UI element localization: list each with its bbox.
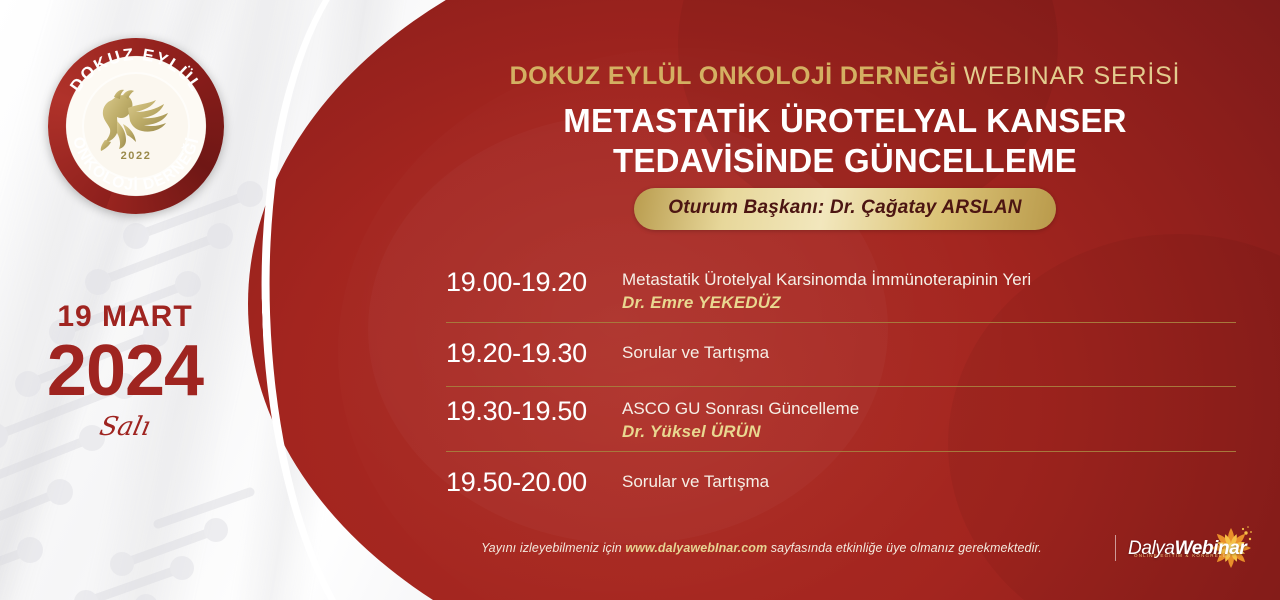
footer-note: Yayını izleyebilmeniz için www.dalyawebI…	[420, 541, 1103, 555]
session-chair-badge: Oturum Başkanı: Dr. Çağatay ARSLAN	[634, 188, 1055, 230]
schedule-time: 19.00-19.20	[446, 266, 622, 300]
date-weekday: Salı	[0, 412, 253, 442]
webinar-poster: DOKUZ EYLÜL ONKOLOJİ DERNEĞİ	[0, 0, 1280, 600]
kicker-series: WEBINAR SERİSİ	[964, 62, 1181, 90]
schedule-time: 19.30-19.50	[446, 395, 622, 429]
schedule-row: 19.50-20.00 Sorular ve Tartışma	[446, 451, 1236, 515]
schedule-row: 19.00-19.20 Metastatik Ürotelyal Karsino…	[446, 258, 1236, 322]
date-day: 19 MART	[0, 302, 250, 332]
emblem-year: 2022	[48, 150, 224, 162]
schedule-speaker: Dr. Emre YEKEDÜZ	[622, 293, 1236, 313]
kicker: DOKUZ EYLÜL ONKOLOJİ DERNEĞİ WEBINAR SER…	[430, 62, 1260, 91]
kicker-association: DOKUZ EYLÜL ONKOLOJİ DERNEĞİ	[510, 62, 957, 90]
footer-divider	[1115, 535, 1116, 561]
footer: Yayını izleyebilmeniz için www.dalyawebI…	[420, 528, 1250, 568]
schedule-speaker: Dr. Yüksel ÜRÜN	[622, 422, 1236, 442]
title-line-1: METASTATİK ÜROTELYAL KANSER	[430, 101, 1260, 141]
title-line-2: TEDAVİSİNDE GÜNCELLEME	[430, 141, 1260, 181]
page-title: METASTATİK ÜROTELYAL KANSER TEDAVİSİNDE …	[430, 101, 1260, 182]
event-date: 19 MART 2024 Salı	[0, 302, 250, 442]
schedule-topic: Sorular ve Tartışma	[622, 471, 1236, 494]
flaming-horse-icon	[90, 88, 182, 152]
footer-note-after: sayfasında etkinliğe üye olmanız gerekme…	[767, 541, 1042, 555]
date-year: 2024	[0, 334, 250, 410]
schedule-topic: Sorular ve Tartışma	[622, 342, 1236, 365]
schedule-topic: Metastatik Ürotelyal Karsinomda İmmünote…	[622, 269, 1236, 292]
association-emblem: DOKUZ EYLÜL ONKOLOJİ DERNEĞİ	[48, 38, 224, 214]
header: DOKUZ EYLÜL ONKOLOJİ DERNEĞİ WEBINAR SER…	[430, 62, 1260, 181]
schedule-time: 19.20-19.30	[446, 337, 622, 371]
webinar-url[interactable]: www.dalyawebInar.com	[625, 541, 767, 555]
schedule-row: 19.30-19.50 ASCO GU Sonrası Güncelleme D…	[446, 386, 1236, 451]
schedule-time: 19.50-20.00	[446, 466, 622, 500]
chair-badge-wrap: Oturum Başkanı: Dr. Çağatay ARSLAN	[430, 188, 1260, 230]
footer-note-before: Yayını izleyebilmeniz için	[481, 541, 625, 555]
schedule-row: 19.20-19.30 Sorular ve Tartışma	[446, 322, 1236, 386]
dalya-logo-tagline: ONLINE EĞİTİM & KONGRELER	[1134, 553, 1231, 558]
schedule-list: 19.00-19.20 Metastatik Ürotelyal Karsino…	[446, 258, 1236, 514]
dalya-webinar-logo[interactable]: DalyaWebinar ONLINE EĞİTİM & KONGRELER	[1128, 528, 1250, 568]
schedule-topic: ASCO GU Sonrası Güncelleme	[622, 398, 1236, 421]
